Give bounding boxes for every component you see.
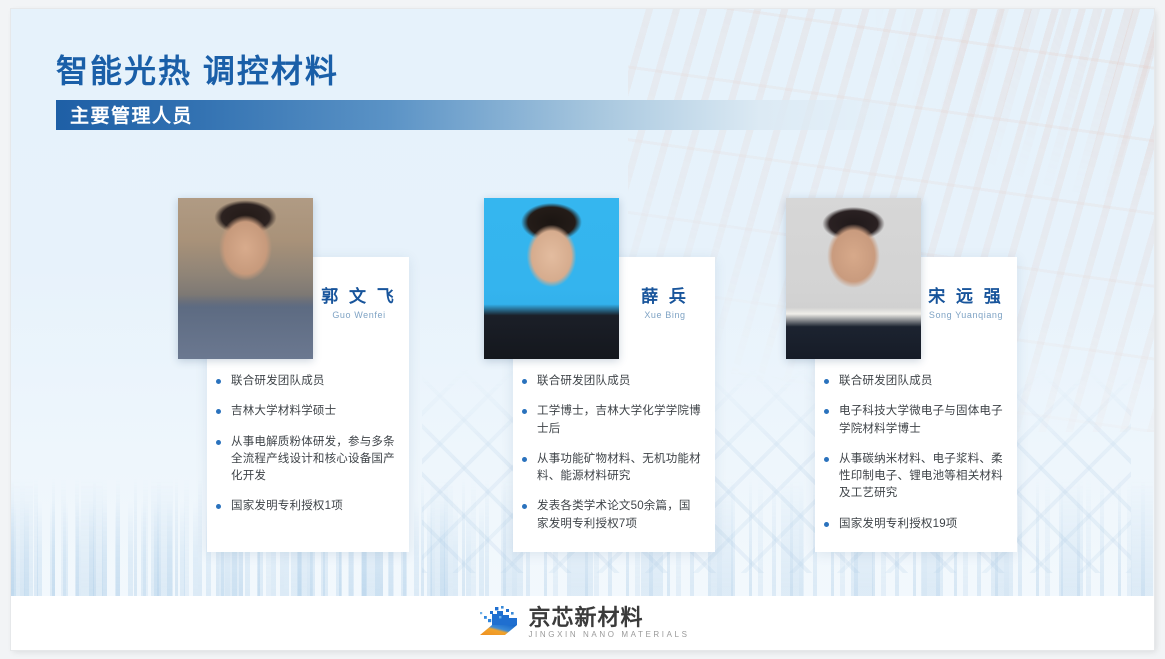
list-item: 从事碳纳米材料、电子浆料、柔性印制电子、锂电池等相关材料及工艺研究 (824, 451, 1004, 503)
list-item: 工学博士，吉林大学化学学院博士后 (522, 403, 702, 438)
person-card-xue-bing: 薛 兵 Xue Bing 联合研发团队成员 工学博士，吉林大学化学学院博士后 从… (473, 187, 715, 552)
person-name-block: 郭 文 飞 Guo Wenfei (309, 287, 409, 320)
presentation-slide: 智能光热 调控材料 主要管理人员 郭 文 飞 Guo Wenfei 联合研发团队… (11, 9, 1154, 650)
person-bullet-list: 联合研发团队成员 工学博士，吉林大学化学学院博士后 从事功能矿物材料、无机功能材… (522, 373, 702, 546)
person-card-song-yuanqiang: 宋 远 强 Song Yuanqiang 联合研发团队成员 电子科技大学微电子与… (775, 187, 1017, 552)
avatar (178, 198, 313, 359)
person-name-block: 薛 兵 Xue Bing (615, 287, 715, 320)
person-name: 郭 文 飞 (309, 287, 409, 307)
list-item: 联合研发团队成员 (522, 373, 702, 390)
avatar (484, 198, 619, 359)
person-bullet-list: 联合研发团队成员 电子科技大学微电子与固体电子学院材料学博士 从事碳纳米材料、电… (824, 373, 1004, 546)
list-item: 从事电解质粉体研发，参与多条全流程产线设计和核心设备国产化开发 (216, 434, 396, 486)
person-name-block: 宋 远 强 Song Yuanqiang (911, 287, 1021, 320)
person-pinyin: Guo Wenfei (309, 310, 409, 320)
list-item: 从事功能矿物材料、无机功能材料、能源材料研究 (522, 451, 702, 486)
person-pinyin: Song Yuanqiang (911, 310, 1021, 320)
list-item: 国家发明专利授权19项 (824, 516, 1004, 533)
avatar (786, 198, 921, 359)
list-item: 联合研发团队成员 (824, 373, 1004, 390)
jingxin-logo-mark-icon (475, 605, 519, 641)
slide-footer: 京芯新材料 JINGXIN NANO MATERIALS (11, 596, 1154, 650)
list-item: 国家发明专利授权1项 (216, 498, 396, 515)
list-item: 吉林大学材料学硕士 (216, 403, 396, 420)
list-item: 电子科技大学微电子与固体电子学院材料学博士 (824, 403, 1004, 438)
section-banner: 主要管理人员 (56, 100, 936, 130)
section-banner-label: 主要管理人员 (56, 101, 193, 128)
person-card-guo-wenfei: 郭 文 飞 Guo Wenfei 联合研发团队成员 吉林大学材料学硕士 从事电解… (167, 187, 409, 552)
person-name: 薛 兵 (615, 287, 715, 307)
logo-name-en: JINGXIN NANO MATERIALS (528, 631, 689, 639)
logo-wordmark: 京芯新材料 JINGXIN NANO MATERIALS (528, 607, 689, 639)
person-bullet-list: 联合研发团队成员 吉林大学材料学硕士 从事电解质粉体研发，参与多条全流程产线设计… (216, 373, 396, 529)
list-item: 联合研发团队成员 (216, 373, 396, 390)
slide-header: 智能光热 调控材料 主要管理人员 (56, 53, 1056, 130)
logo-name-cn: 京芯新材料 (528, 607, 689, 629)
person-pinyin: Xue Bing (615, 310, 715, 320)
company-logo: 京芯新材料 JINGXIN NANO MATERIALS (475, 605, 689, 641)
page-title: 智能光热 调控材料 (56, 53, 1056, 91)
person-name: 宋 远 强 (911, 287, 1021, 307)
list-item: 发表各类学术论文50余篇，国家发明专利授权7项 (522, 498, 702, 533)
